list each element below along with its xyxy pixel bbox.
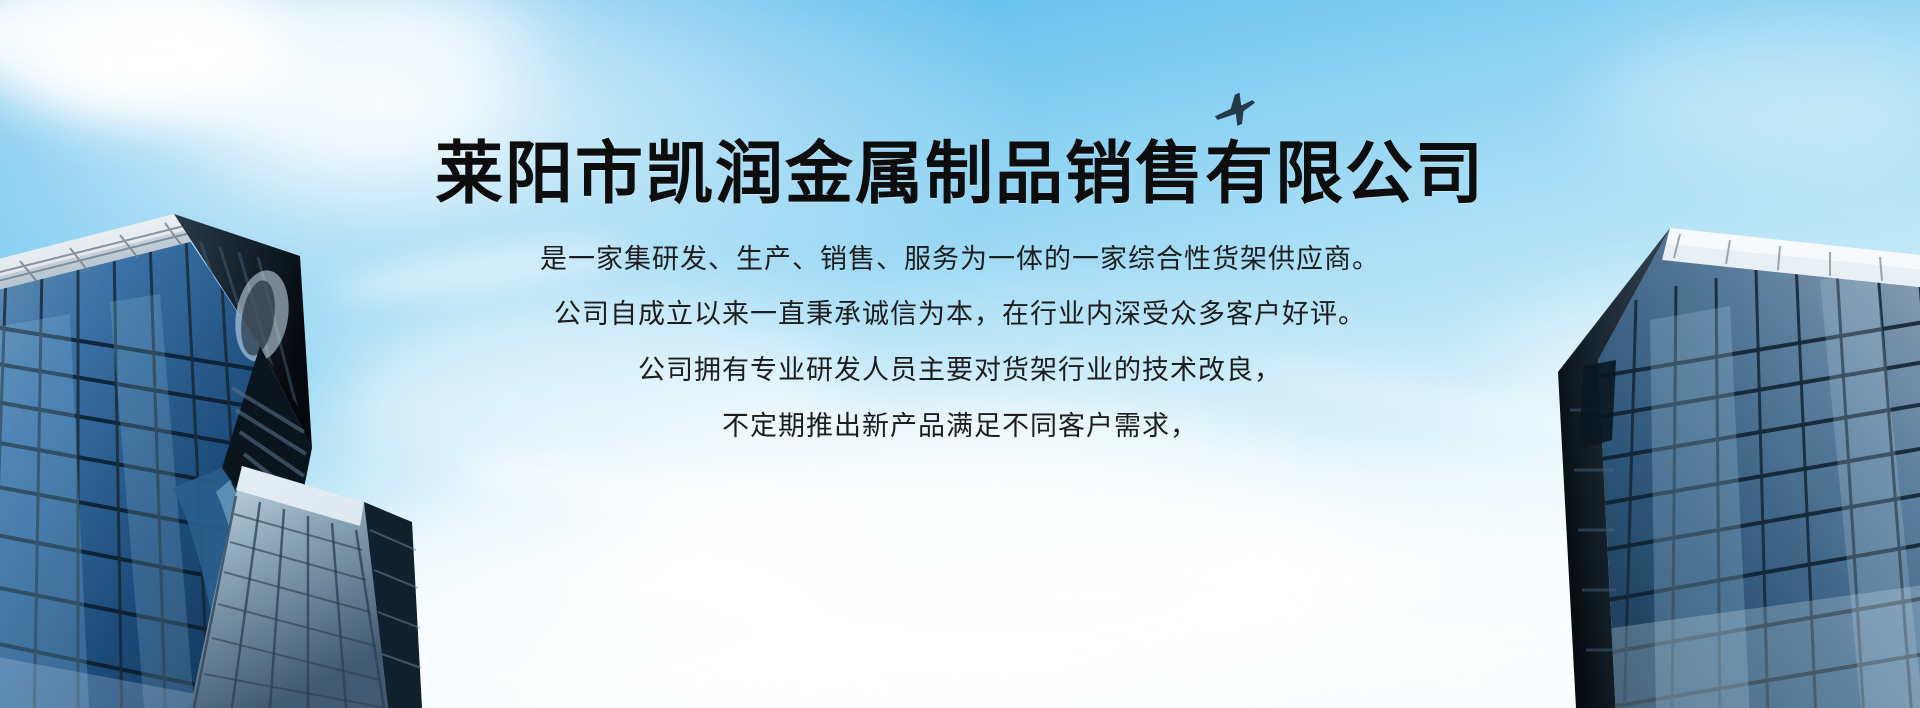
skyscraper-left: [0, 88, 430, 708]
description-line-1: 是一家集研发、生产、销售、服务为一体的一家综合性货架供应商。: [540, 245, 1380, 275]
cloud-wisp: [899, 545, 1461, 634]
description-line-2: 公司自成立以来一直秉承诚信为本，在行业内深受众多客户好评。: [554, 300, 1366, 330]
description-line-3: 公司拥有专业研发人员主要对货架行业的技术改良，: [638, 356, 1282, 386]
airplane-icon: [1212, 92, 1258, 128]
cloud-shape: [150, 0, 530, 110]
cloud-wisp: [459, 448, 882, 538]
cloud-shape: [40, 10, 300, 120]
skyscraper-right: [1520, 110, 1920, 708]
cloud-shape: [1600, 30, 1920, 170]
cloud-wisp: [329, 229, 632, 310]
cloud-shape: [0, 0, 270, 110]
company-banner: 莱阳市凯润金属制品销售有限公司 是一家集研发、生产、销售、服务为一体的一家综合性…: [0, 0, 1920, 708]
description-line-4: 不定期推出新产品满足不同客户需求，: [722, 412, 1198, 442]
cloud-shape: [1480, 300, 1900, 480]
page-title: 莱阳市凯润金属制品销售有限公司: [435, 140, 1485, 211]
cloud-wisp: [1249, 354, 1590, 443]
skyscraper-left-small: [150, 430, 450, 708]
cloud-shape: [210, 60, 510, 180]
cloud-shape: [260, 500, 880, 708]
